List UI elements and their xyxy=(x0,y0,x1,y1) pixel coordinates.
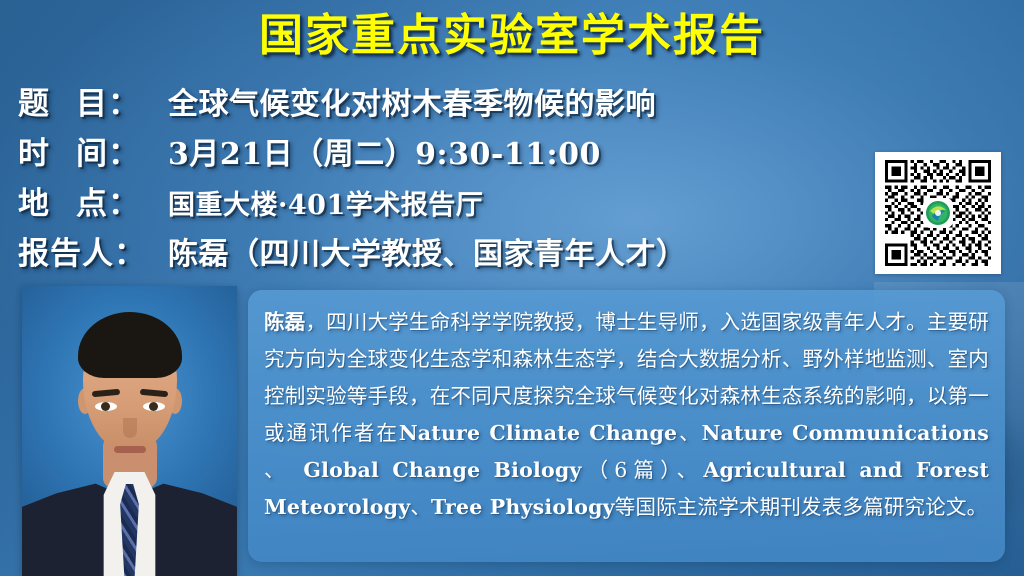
bio-journal-name: Global Change Biology xyxy=(303,458,581,482)
portrait-mouth xyxy=(114,446,146,453)
info-row-time: 时间： 3月21日（周二）9:30-11:00 xyxy=(18,128,878,178)
info-row-speaker: 报告人： 陈磊（四川大学教授、国家青年人才） xyxy=(18,228,878,278)
speaker-portrait-photo xyxy=(22,286,237,576)
speaker-bio-text: 陈磊，四川大学生命科学学院教授，博士生导师，入选国家级青年人才。主要研究方向为全… xyxy=(264,304,989,526)
info-value-location: 国重大楼·401学术报告厅 xyxy=(168,183,483,222)
bio-text-segment: 、 xyxy=(264,458,303,482)
green-swirl-logo-icon xyxy=(923,198,953,228)
info-row-location: 地点： 国重大楼·401学术报告厅 xyxy=(18,178,878,228)
bio-journal-name: Nature Communications xyxy=(702,421,989,445)
info-block: 题目： 全球气候变化对树木春季物候的影响 时间： 3月21日（周二）9:30-1… xyxy=(18,78,878,278)
portrait-eye-right xyxy=(143,402,165,411)
qr-code[interactable] xyxy=(875,152,1001,274)
swirl-logo-glyph xyxy=(925,200,951,226)
bio-speaker-name: 陈磊 xyxy=(264,310,305,334)
info-label-time: 时间： xyxy=(18,128,168,173)
bio-text-segment: 、 xyxy=(410,495,431,519)
info-label-location: 地点： xyxy=(18,178,168,223)
info-value-topic: 全球气候变化对树木春季物候的影响 xyxy=(168,79,656,123)
portrait-nose xyxy=(123,418,137,438)
bio-text-segment: （6篇）、 xyxy=(582,458,704,482)
page-title: 国家重点实验室学术报告 xyxy=(0,8,1024,64)
info-label-topic: 题目： xyxy=(18,78,168,123)
speaker-bio-box: 陈磊，四川大学生命科学学院教授，博士生导师，入选国家级青年人才。主要研究方向为全… xyxy=(248,290,1005,562)
bio-journal-name: Nature Climate Change xyxy=(399,421,677,445)
info-value-time: 3月21日（周二）9:30-11:00 xyxy=(168,129,601,173)
bio-text-segment: 等国际主流学术期刊发表多篇研究论文。 xyxy=(615,495,988,519)
info-label-speaker: 报告人： xyxy=(18,228,168,273)
bio-journal-name: Tree Physiology xyxy=(431,495,615,519)
info-value-speaker: 陈磊（四川大学教授、国家青年人才） xyxy=(168,229,687,273)
bio-body: ，四川大学生命科学学院教授，博士生导师，入选国家级青年人才。主要研究方向为全球变… xyxy=(264,310,989,519)
info-row-topic: 题目： 全球气候变化对树木春季物候的影响 xyxy=(18,78,878,128)
seminar-poster: 国家重点实验室学术报告 题目： 全球气候变化对树木春季物候的影响 时间： 3月2… xyxy=(0,0,1024,576)
bio-text-segment: 、 xyxy=(677,421,701,445)
portrait-eye-left xyxy=(95,402,117,411)
